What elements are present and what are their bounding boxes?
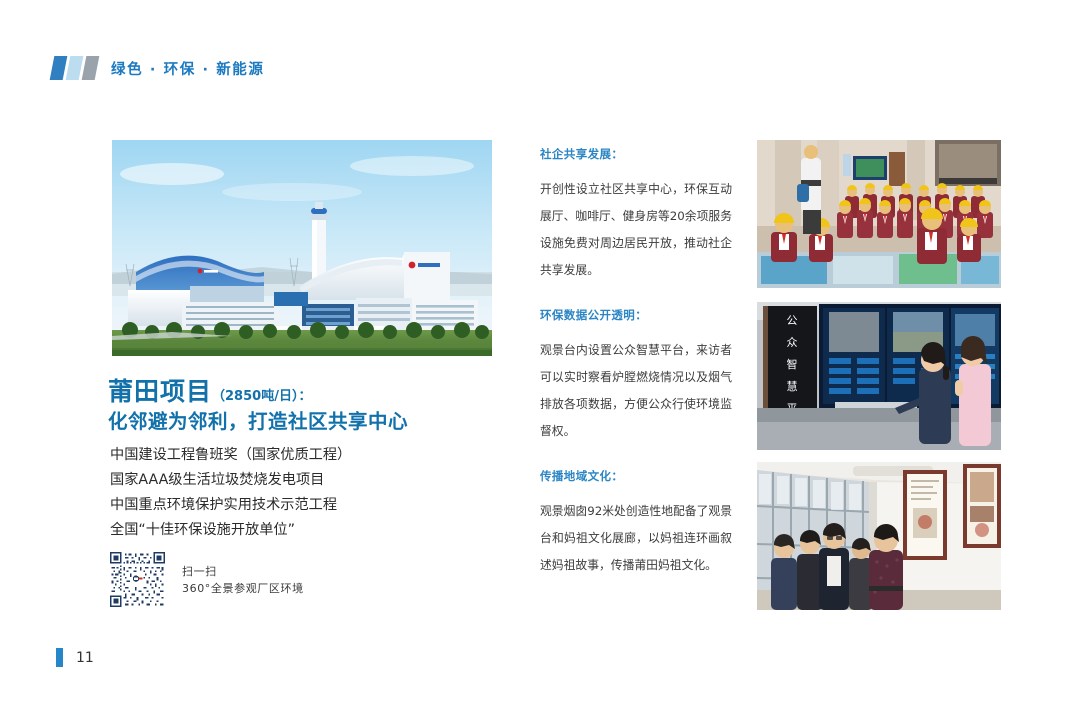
qr-caption: 扫一扫 360°全景参观厂区环境 bbox=[182, 563, 304, 597]
platform-panel-char-3: 智 bbox=[787, 357, 798, 371]
section-heading: 传播地域文化： bbox=[540, 468, 732, 484]
brand-slogan: 绿色 · 环保 · 新能源 bbox=[111, 58, 265, 79]
brand-logo: 绿色 · 环保 · 新能源 bbox=[52, 55, 265, 81]
photo-smart-platform: 公 众 智 慧 平 台 bbox=[757, 302, 1001, 450]
feature-section: 环保数据公开透明： 观景台内设置公众智慧平台，来访者可以实时察看炉膛燃烧情况以及… bbox=[540, 307, 732, 445]
award-item: 国家AAA级生活垃圾焚烧发电项目 bbox=[110, 468, 351, 493]
hero-photo-illustration bbox=[112, 140, 492, 356]
hero-photo-plant bbox=[112, 140, 492, 356]
section-body: 观景台内设置公众智慧平台，来访者可以实时察看炉膛燃烧情况以及烟气排放各项数据，方… bbox=[540, 337, 732, 445]
qr-code-svg bbox=[110, 552, 165, 607]
award-item: 全国“十佳环保设施开放单位” bbox=[110, 518, 351, 543]
photo-culture-gallery bbox=[757, 462, 1001, 610]
logo-bar-3-icon bbox=[82, 56, 100, 80]
logo-bar-2-icon bbox=[66, 56, 84, 80]
page-number-block: 11 bbox=[56, 648, 94, 667]
logo-bar-1-icon bbox=[50, 56, 68, 80]
section-heading: 社企共享发展： bbox=[540, 146, 732, 162]
qr-block: 扫一扫 360°全景参观厂区环境 bbox=[110, 552, 304, 607]
project-subtitle: 化邻避为邻利，打造社区共享中心 bbox=[108, 405, 408, 434]
page-number-tick-icon bbox=[56, 648, 63, 667]
platform-panel-char-4: 慧 bbox=[787, 379, 798, 393]
platform-panel-char-2: 众 bbox=[787, 336, 798, 349]
photo-platform-illustration: 公 众 智 慧 平 台 bbox=[757, 302, 1001, 450]
photo-students-illustration bbox=[757, 140, 1001, 288]
qr-code-icon[interactable] bbox=[110, 552, 165, 607]
section-body: 观景烟囱92米处创造性地配备了观景台和妈祖文化展廊，以妈祖连环画叙述妈祖故事，传… bbox=[540, 498, 732, 579]
brochure-page: 绿色 · 环保 · 新能源 bbox=[0, 0, 1070, 710]
feature-section: 社企共享发展： 开创性设立社区共享中心，环保互动展厅、咖啡厅、健身房等20余项服… bbox=[540, 146, 732, 284]
logo-bars-icon bbox=[52, 56, 100, 80]
photo-students-visit bbox=[757, 140, 1001, 288]
photo-gallery-illustration bbox=[757, 462, 1001, 610]
awards-list: 中国建设工程鲁班奖（国家优质工程） 国家AAA级生活垃圾焚烧发电项目 中国重点环… bbox=[110, 443, 351, 543]
project-title-main: 莆田项目 bbox=[108, 377, 212, 406]
section-body: 开创性设立社区共享中心，环保互动展厅、咖啡厅、健身房等20余项服务设施免费对周边… bbox=[540, 176, 732, 284]
page-number: 11 bbox=[76, 650, 94, 666]
qr-tour-label: 360°全景参观厂区环境 bbox=[182, 580, 304, 597]
feature-sections: 社企共享发展： 开创性设立社区共享中心，环保互动展厅、咖啡厅、健身房等20余项服… bbox=[540, 146, 732, 602]
award-item: 中国建设工程鲁班奖（国家优质工程） bbox=[110, 443, 351, 468]
section-heading: 环保数据公开透明： bbox=[540, 307, 732, 323]
feature-section: 传播地域文化： 观景烟囱92米处创造性地配备了观景台和妈祖文化展廊，以妈祖连环画… bbox=[540, 468, 732, 579]
project-title-capacity: （2850吨/日）： bbox=[212, 389, 311, 404]
qr-scan-label: 扫一扫 bbox=[182, 563, 304, 580]
platform-panel-char-1: 公 bbox=[787, 314, 798, 327]
award-item: 中国重点环境保护实用技术示范工程 bbox=[110, 493, 351, 518]
project-title: 莆田项目（2850吨/日）： bbox=[108, 372, 311, 408]
